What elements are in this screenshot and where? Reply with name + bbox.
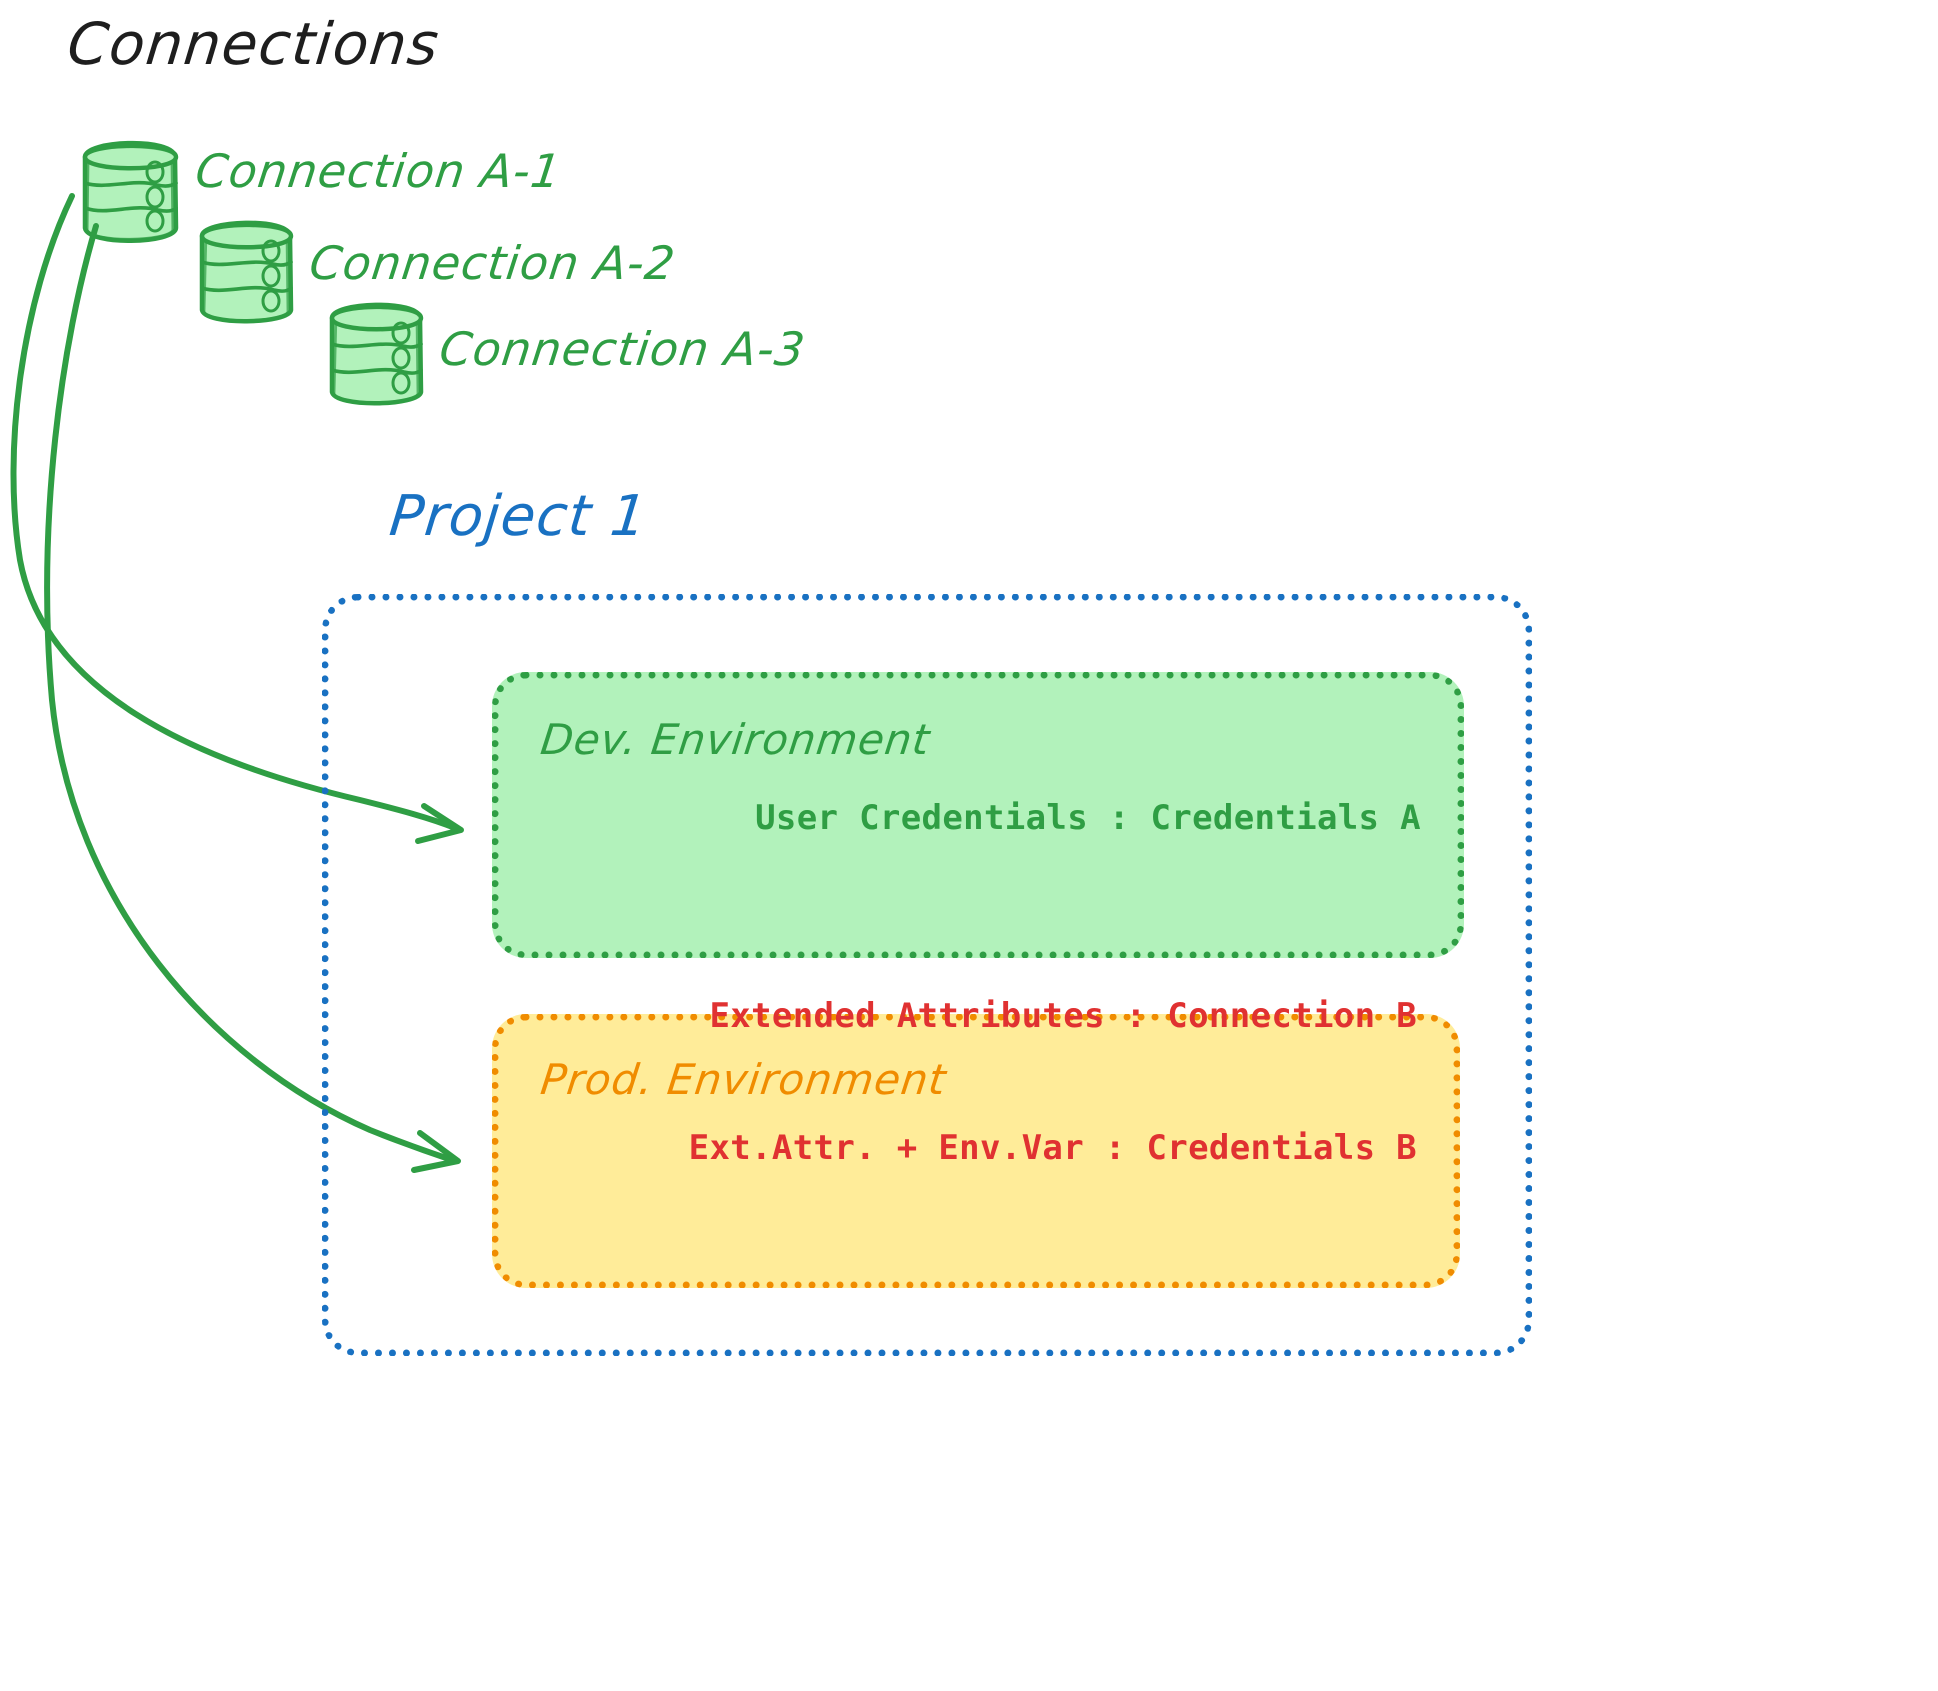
database-cylinder-icon-3 bbox=[332, 305, 421, 404]
connection-label-a3: Connection A-3 bbox=[437, 322, 809, 376]
dev-environment-property-line: User Credentials : Credentials A bbox=[755, 796, 1421, 840]
prod-environment-properties: Extended Attributes : Connection B Ext.A… bbox=[689, 906, 1417, 1260]
project-title: Project 1 bbox=[387, 484, 651, 549]
prod-environment-property-line: Extended Attributes : Connection B bbox=[689, 994, 1417, 1038]
diagram-canvas: Connections Connection A-1 Connection A-… bbox=[0, 0, 1938, 1691]
prod-environment-property-line: Ext.Attr. + Env.Var : Credentials B bbox=[689, 1126, 1417, 1170]
connection-label-a1: Connection A-1 bbox=[193, 144, 565, 198]
connection-label-a2: Connection A-2 bbox=[307, 236, 679, 290]
dev-environment-properties: User Credentials : Credentials A bbox=[755, 708, 1421, 929]
page-title: Connections bbox=[64, 10, 442, 78]
database-cylinder-icon-2 bbox=[202, 223, 291, 322]
prod-environment-box: Prod. Environment Extended Attributes : … bbox=[492, 1014, 1460, 1288]
